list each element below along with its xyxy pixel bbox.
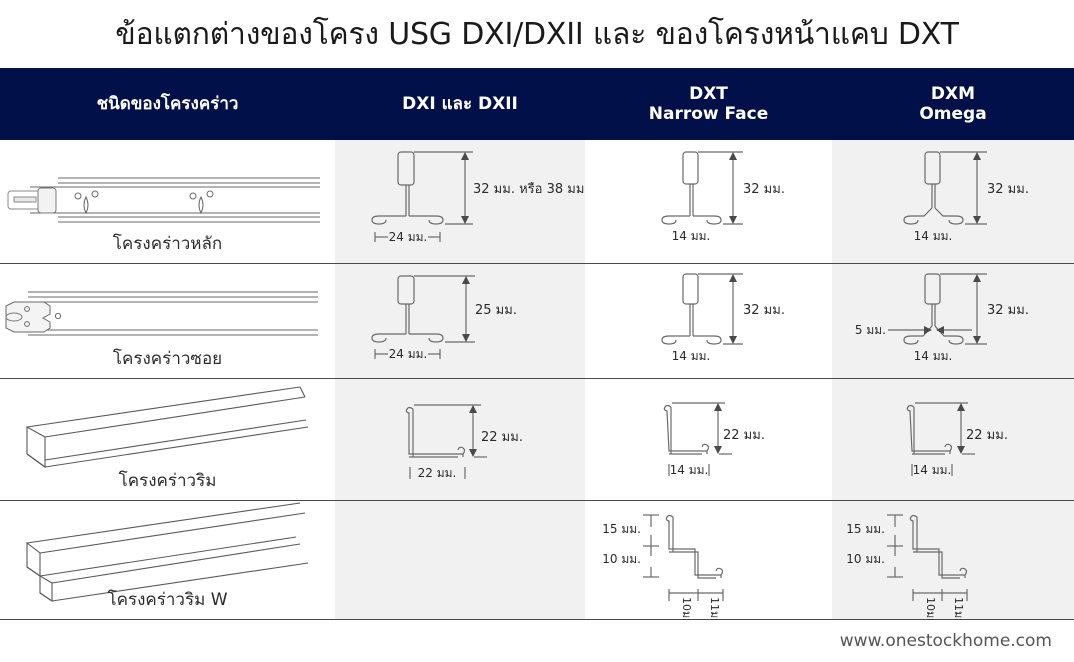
tee-profile-diagram: 25 มม. 24 มม. — [335, 264, 585, 378]
width-label: 14 มม. — [914, 229, 953, 243]
omega-profile-diagram: 5 มม. 32 มม. 14 มม. — [832, 264, 1074, 378]
column-header-dxt: DXT Narrow Face — [585, 68, 832, 140]
cell-dxt: 32 มม. 14 มม. — [585, 140, 832, 263]
row-label: โครงคร่าวริม — [0, 467, 335, 494]
cell-dxm: 22 มม. 14 มม. — [832, 379, 1074, 500]
site-url: www.onestockhome.com — [840, 631, 1052, 651]
column-header-dxt-line2: Narrow Face — [649, 104, 768, 124]
height-label: 22 มม. — [723, 428, 765, 443]
cell-dxm: 32 มม. 14 มม. — [832, 140, 1074, 263]
tee-profile-diagram: 32 มม. หรือ 38 มม. 24 มม. — [335, 140, 585, 263]
footer: www.onestockhome.com — [0, 620, 1074, 662]
table-row: โครงคร่าวริม W — [0, 501, 1074, 620]
cell-dxi: 22 มม. 22 มม. — [335, 379, 585, 500]
column-header-dxm-line2: Omega — [919, 104, 986, 124]
column-header-dxi: DXI และ DXII — [335, 68, 585, 140]
mid-label: 10 มม. — [846, 552, 885, 566]
width-label: 14 มม. — [914, 349, 953, 363]
mid-label: 10 มม. — [602, 552, 641, 566]
tee-profile-narrow-diagram: 32 มม. 14 มม. — [585, 140, 832, 263]
height-label: 22 มม. — [966, 428, 1008, 443]
table-header: ชนิดของโครงคร่าว DXI และ DXII DXT Narrow… — [0, 68, 1074, 140]
row-type-cell: โครงคร่าวหลัก — [0, 140, 335, 263]
table-row: โครงคร่าวริม — [0, 379, 1074, 501]
height-label: 25 มม. — [475, 303, 517, 318]
angle-profile-diagram: 22 มม. 14 มม. — [832, 379, 1074, 500]
cell-dxt: 15 มม. 10 มม. 10มม. 11มม. — [585, 501, 832, 619]
column-header-dxt-line1: DXT — [689, 84, 728, 104]
extra-label: 5 มม. — [855, 323, 886, 337]
width-label: 24 มม. — [389, 347, 428, 361]
column-header-dxi-line1: DXI และ DXII — [402, 94, 518, 114]
page-root: ข้อแตกต่างของโครง USG DXI/DXII และ ของโค… — [0, 0, 1074, 662]
cell-dxi: 32 มม. หรือ 38 มม. 24 มม. — [335, 140, 585, 263]
cell-dxm: 15 มม. 10 มม. 10มม. 11มม. — [832, 501, 1074, 619]
width-label: 22 มม. — [418, 466, 457, 480]
height-label: 32 มม. — [743, 303, 785, 318]
column-header-type: ชนิดของโครงคร่าว — [0, 68, 335, 140]
top-label: 15 มม. — [846, 522, 885, 536]
table-row: โครงคร่าวหลัก — [0, 140, 1074, 264]
column-header-type-line1: ชนิดของโครงคร่าว — [97, 94, 239, 114]
height-label: 32 มม. หรือ 38 มม. — [473, 181, 589, 197]
row-label: โครงคร่าวหลัก — [0, 230, 335, 257]
row-type-cell: โครงคร่าวริม — [0, 379, 335, 500]
width-label: 14 มม. — [672, 349, 711, 363]
row-type-cell: โครงคร่าวซอย — [0, 264, 335, 378]
page-title: ข้อแตกต่างของโครง USG DXI/DXII และ ของโค… — [115, 11, 958, 58]
height-label: 22 มม. — [481, 430, 523, 445]
page-title-bar: ข้อแตกต่างของโครง USG DXI/DXII และ ของโค… — [0, 0, 1074, 68]
column-header-dxm-line1: DXM — [931, 84, 975, 104]
column-header-dxm: DXM Omega — [832, 68, 1074, 140]
width-label: 14 มม. — [913, 463, 952, 477]
width-label: 14 มม. — [670, 463, 709, 477]
cell-dxt: 32 มม. 14 มม. — [585, 264, 832, 378]
cell-dxm: 5 มม. 32 มม. 14 มม. — [832, 264, 1074, 378]
width-label: 24 มม. — [389, 230, 428, 244]
cell-dxi — [335, 501, 585, 619]
cell-dxt: 22 มม. 14 มม. — [585, 379, 832, 500]
top-label: 15 มม. — [602, 522, 641, 536]
w-profile-diagram: 15 มม. 10 มม. 10มม. 11มม. — [832, 501, 1074, 619]
table-row: โครงคร่าวซอย — [0, 264, 1074, 379]
row-type-cell: โครงคร่าวริม W — [0, 501, 335, 619]
w-profile-diagram: 15 มม. 10 มม. 10มม. 11มม. — [585, 501, 832, 619]
tee-profile-narrow-diagram: 32 มม. 14 มม. — [585, 264, 832, 378]
comparison-table: โครงคร่าวหลัก — [0, 140, 1074, 620]
cell-dxi: 25 มม. 24 มม. — [335, 264, 585, 378]
row-label: โครงคร่าวซอย — [0, 345, 335, 372]
row-label: โครงคร่าวริม W — [0, 586, 335, 613]
omega-profile-diagram: 32 มม. 14 มม. — [832, 140, 1074, 263]
height-label: 32 มม. — [987, 303, 1029, 318]
width-label: 14 มม. — [672, 229, 711, 243]
height-label: 32 มม. — [743, 182, 785, 197]
height-label: 32 มม. — [987, 182, 1029, 197]
angle-profile-diagram: 22 มม. 22 มม. — [335, 379, 585, 500]
angle-profile-diagram: 22 มม. 14 มม. — [585, 379, 832, 500]
